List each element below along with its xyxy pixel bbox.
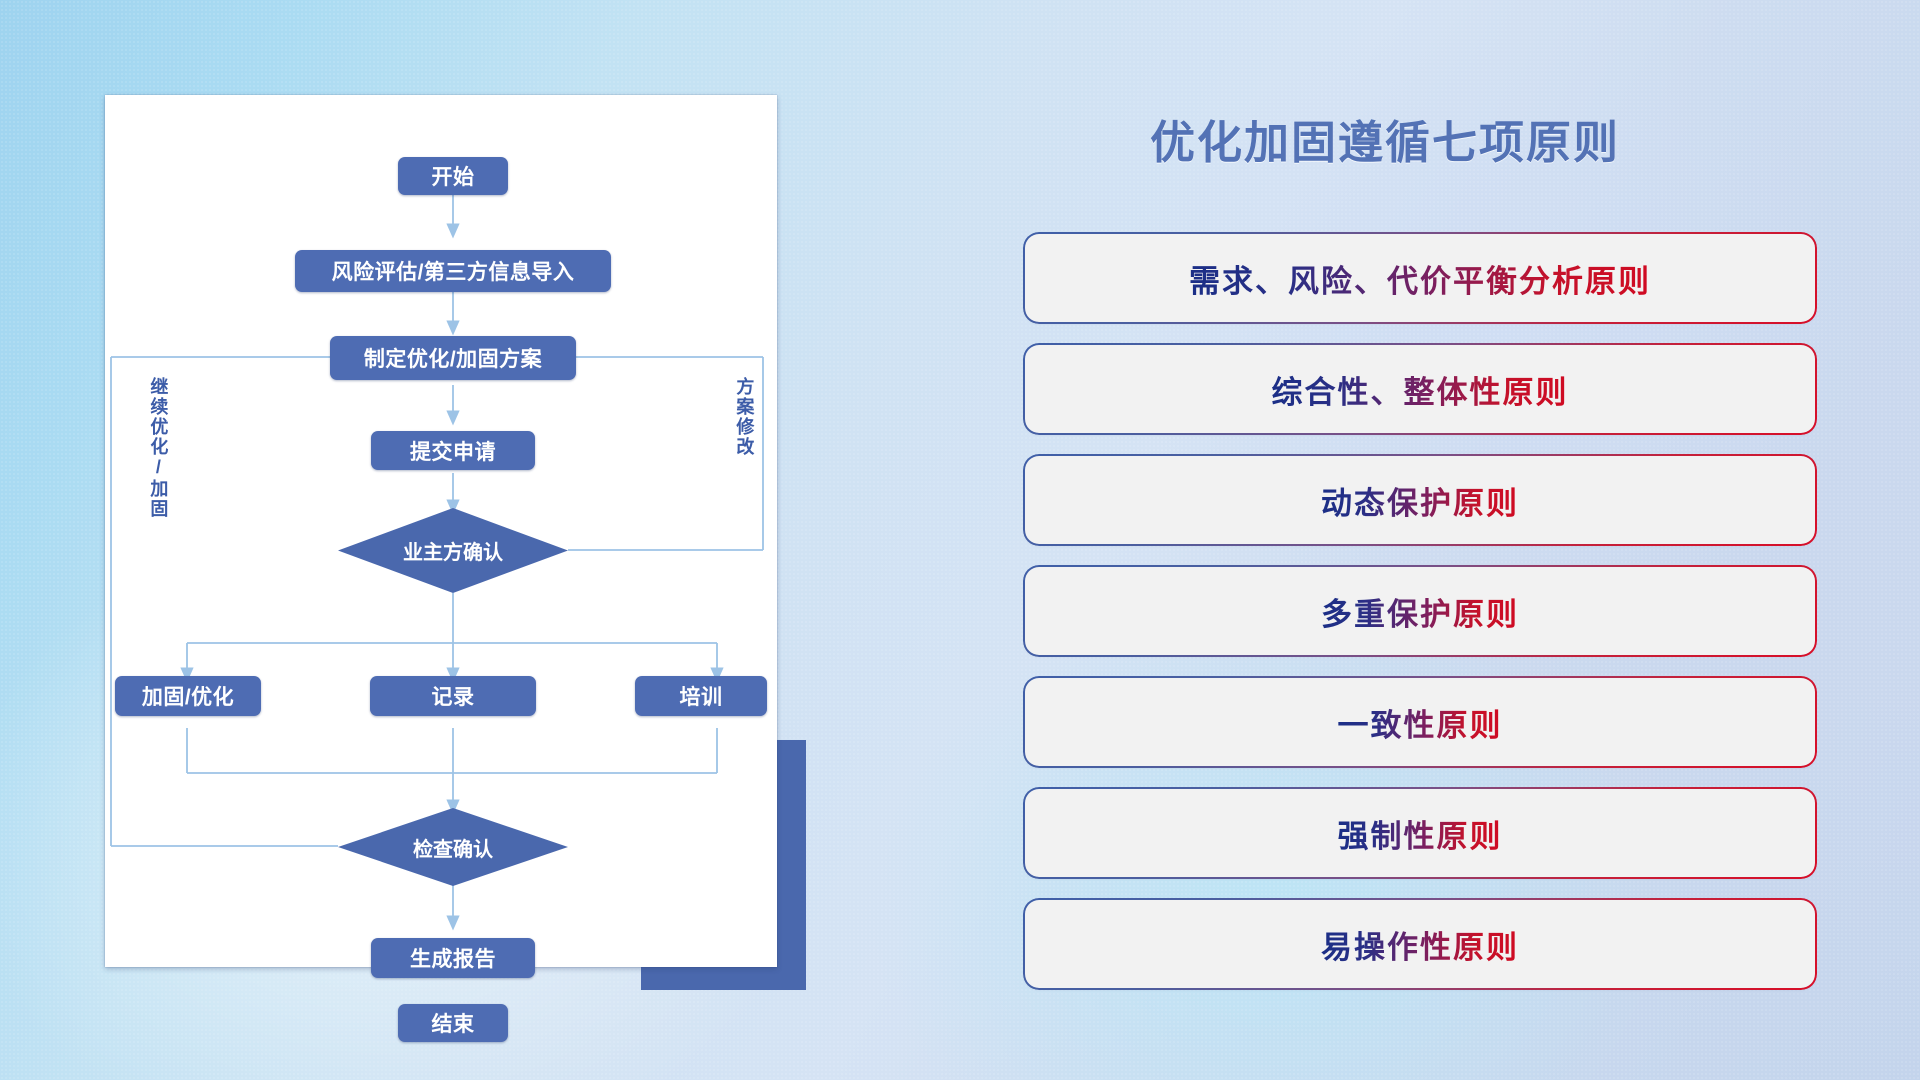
flow-node-end[interactable]: 结束	[398, 1004, 508, 1042]
flowchart: 开始 风险评估/第三方信息导入 制定优化/加固方案 提交申请 业主方确认 加固/…	[105, 95, 777, 967]
flow-node-label: 提交申请	[410, 436, 496, 466]
flow-node-label: 记录	[432, 681, 475, 711]
flow-node-generate-report[interactable]: 生成报告	[371, 938, 535, 978]
flow-node-record[interactable]: 记录	[370, 676, 536, 716]
principles-list: 需求、风险、代价平衡分析原则 综合性、整体性原则 动态保护原则 多重保护原则 一…	[1025, 234, 1815, 1011]
flow-node-submit-application[interactable]: 提交申请	[371, 431, 535, 470]
flowchart-panel: 开始 风险评估/第三方信息导入 制定优化/加固方案 提交申请 业主方确认 加固/…	[105, 95, 777, 967]
flow-edge-label-left-loop: 继续优化/加固	[149, 377, 167, 519]
flow-edge-label-right-loop: 方案修改	[735, 377, 753, 457]
flow-decision-label: 业主方确认	[403, 536, 503, 565]
principle-label: 动态保护原则	[1321, 478, 1519, 523]
flow-node-label: 风险评估/第三方信息导入	[332, 256, 575, 286]
flow-node-label: 结束	[432, 1008, 475, 1038]
principle-label: 需求、风险、代价平衡分析原则	[1189, 256, 1651, 301]
flow-decision-check-confirm[interactable]: 检查确认	[338, 808, 568, 886]
principle-label: 强制性原则	[1338, 811, 1503, 856]
principle-label: 一致性原则	[1338, 700, 1503, 745]
flow-node-label: 制定优化/加固方案	[364, 343, 542, 373]
flow-node-risk-assessment[interactable]: 风险评估/第三方信息导入	[295, 250, 611, 292]
principle-label: 易操作性原则	[1321, 922, 1519, 967]
principle-label: 多重保护原则	[1321, 589, 1519, 634]
principle-card-7[interactable]: 易操作性原则	[1025, 900, 1815, 988]
principle-card-4[interactable]: 多重保护原则	[1025, 567, 1815, 655]
page-title: 优化加固遵循七项原则	[1150, 106, 1750, 171]
flow-node-label: 加固/优化	[142, 681, 234, 711]
flow-node-label: 开始	[432, 161, 475, 191]
flow-node-reinforce-optimize[interactable]: 加固/优化	[115, 676, 261, 716]
flow-node-label: 生成报告	[410, 943, 496, 973]
principle-card-3[interactable]: 动态保护原则	[1025, 456, 1815, 544]
principle-card-2[interactable]: 综合性、整体性原则	[1025, 345, 1815, 433]
flow-node-training[interactable]: 培训	[635, 676, 767, 716]
flow-node-label: 培训	[680, 681, 723, 711]
principle-card-1[interactable]: 需求、风险、代价平衡分析原则	[1025, 234, 1815, 322]
flow-node-start[interactable]: 开始	[398, 157, 508, 195]
principle-card-5[interactable]: 一致性原则	[1025, 678, 1815, 766]
principle-label: 综合性、整体性原则	[1272, 367, 1569, 412]
flow-node-plan[interactable]: 制定优化/加固方案	[330, 336, 576, 380]
flow-decision-label: 检查确认	[413, 833, 493, 862]
flow-decision-owner-confirm[interactable]: 业主方确认	[338, 508, 568, 593]
principle-card-6[interactable]: 强制性原则	[1025, 789, 1815, 877]
